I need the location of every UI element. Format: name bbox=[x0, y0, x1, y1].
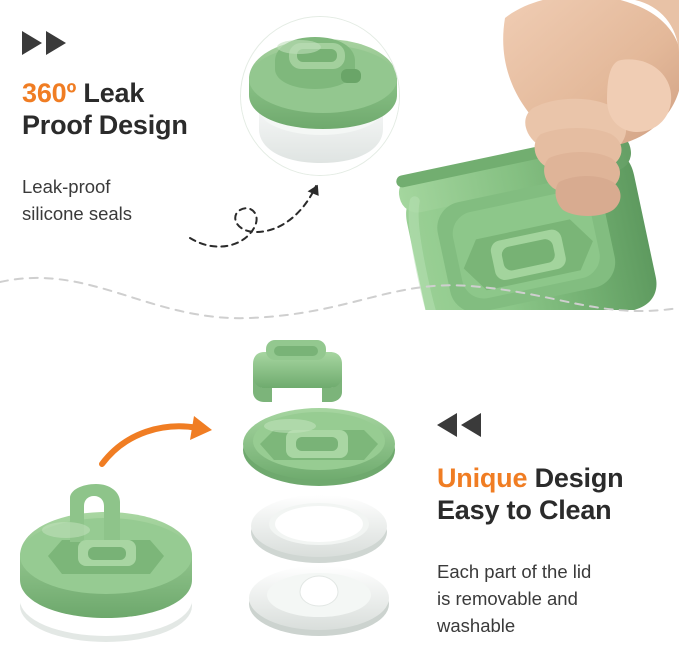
bottom-right-subtext: Each part of the lid is removable and wa… bbox=[437, 559, 672, 639]
bottom-right-headline: Unique Design Easy to Clean bbox=[437, 463, 672, 527]
headline-line2-proof-design: Proof Design bbox=[22, 110, 188, 140]
double-chevron-left-icon bbox=[437, 412, 495, 438]
subtext-line2: silicone seals bbox=[22, 203, 132, 224]
hand-holding-green-tumbler bbox=[385, 0, 679, 310]
top-left-headline: 360º Leak Proof Design bbox=[22, 78, 272, 142]
subtext-line3: washable bbox=[437, 615, 515, 636]
lid-seal-closeup-circle bbox=[240, 16, 400, 176]
exploded-lid-parts bbox=[212, 330, 427, 650]
headline-accent-unique: Unique bbox=[437, 463, 527, 493]
headline-accent-360: 360º bbox=[22, 78, 76, 108]
headline-line2-easy-to-clean: Easy to Clean bbox=[437, 495, 611, 525]
headline-rest-leak: Leak bbox=[76, 78, 144, 108]
subtext-line1: Leak-proof bbox=[22, 176, 110, 197]
subtext-line2: is removable and bbox=[437, 588, 578, 609]
dashed-callout-line bbox=[182, 176, 332, 254]
promo-infographic: 360º Leak Proof Design Leak-proof silico… bbox=[0, 0, 679, 664]
dashed-wave-divider bbox=[0, 268, 679, 332]
headline-rest-design: Design bbox=[527, 463, 623, 493]
assembled-green-lid bbox=[4, 478, 214, 650]
curved-orange-arrow-icon bbox=[98, 414, 218, 474]
double-chevron-right-icon bbox=[22, 30, 80, 56]
subtext-line1: Each part of the lid bbox=[437, 561, 591, 582]
